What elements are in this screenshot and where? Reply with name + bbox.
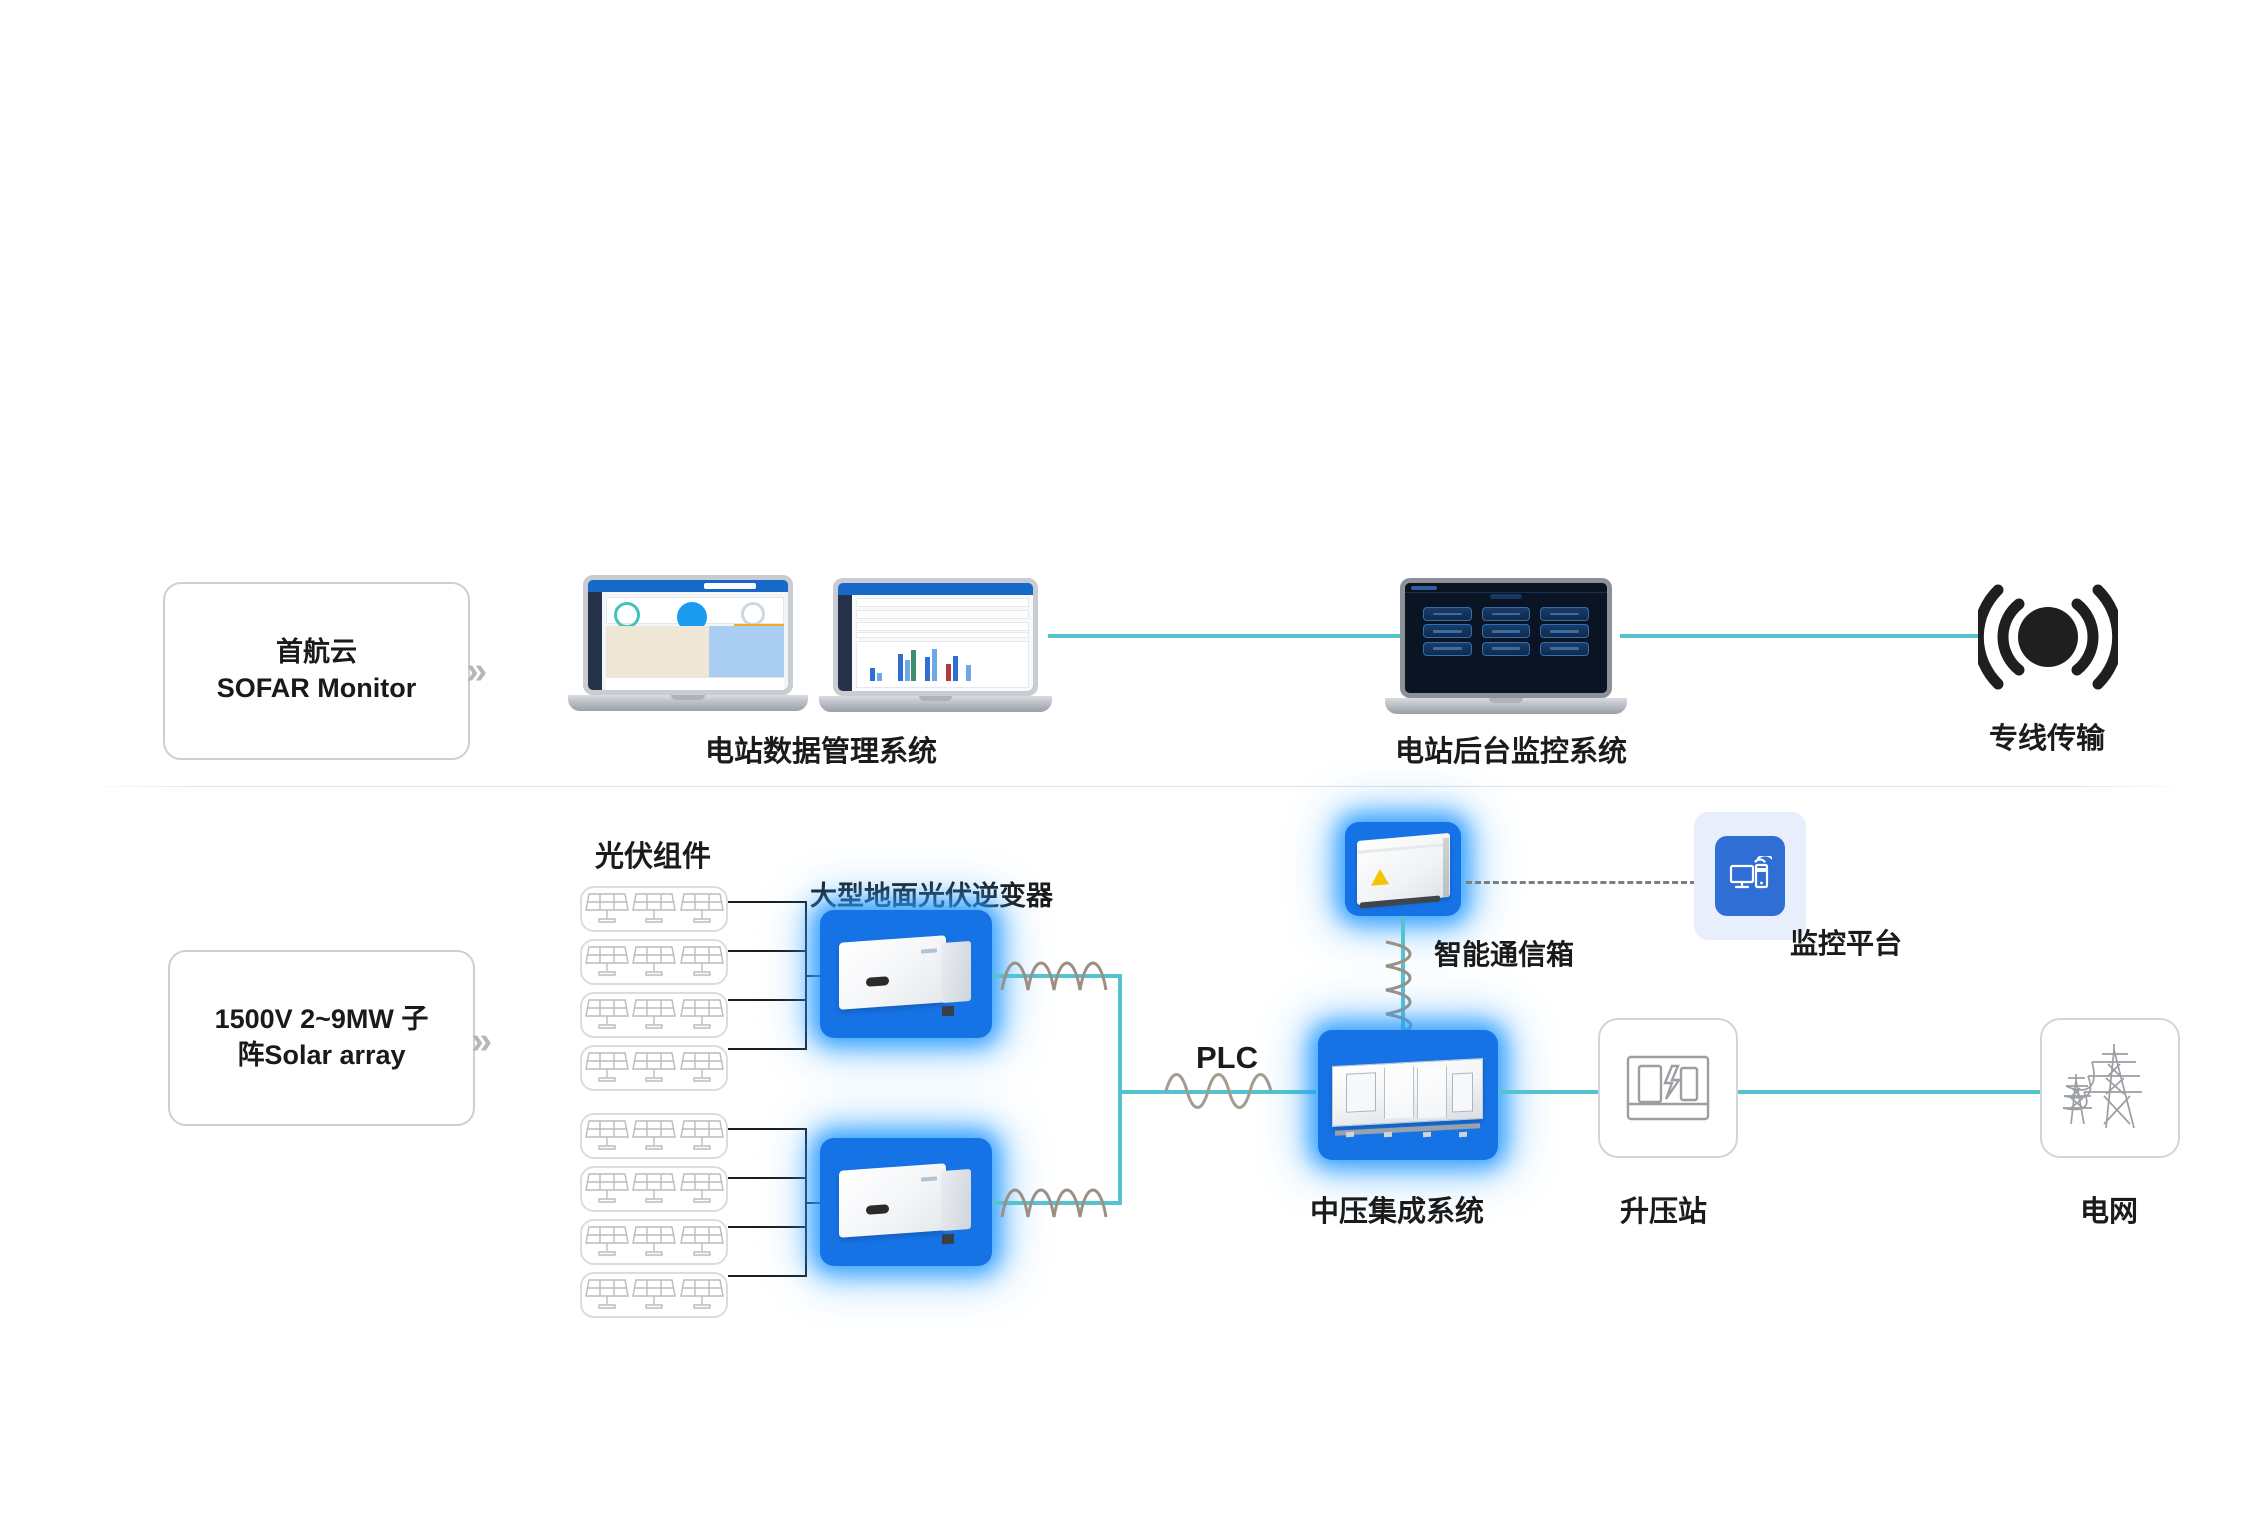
solar-panel-icon [679, 1170, 725, 1208]
chip-solar-line2: 阵Solar array [215, 1038, 429, 1074]
pv-row[interactable] [580, 939, 728, 985]
chart-bar [877, 673, 882, 681]
kpi-ring2-icon [741, 602, 765, 626]
pv-bracket-line [728, 1275, 806, 1277]
chart-bar [870, 668, 875, 681]
dark-grid-button[interactable] [1540, 607, 1589, 621]
plc-label: PLC [1196, 1040, 1258, 1076]
solar-panel-icon [631, 1117, 677, 1155]
inverter-device-icon [839, 934, 973, 1013]
mv-leg [1346, 1131, 1354, 1137]
laptop-screen-dark [1400, 578, 1612, 698]
caption-mv-system: 中压集成系统 [1310, 1188, 1484, 1230]
pv-bracket-line [728, 1128, 806, 1130]
pv-row[interactable] [580, 1219, 728, 1265]
monitoring-platform-tile[interactable] [1694, 812, 1806, 940]
mv-pane [1417, 1066, 1447, 1119]
screen-topbar [588, 580, 788, 592]
screen-filter-row-1 [856, 598, 1030, 607]
screen-search-field [704, 583, 756, 590]
comm-box-tile[interactable] [1345, 822, 1461, 916]
pv-row[interactable] [580, 1045, 728, 1091]
substation-icon [1625, 1052, 1711, 1124]
screen-filter-row-4 [856, 632, 1030, 638]
solar-panel-icon [584, 943, 630, 981]
chart-bar [925, 657, 930, 681]
mv-leg [1459, 1131, 1467, 1137]
chip-line1: 首航云 [217, 635, 416, 671]
plc-sine-wave [1164, 1073, 1284, 1109]
dark-grid-button[interactable] [1423, 642, 1472, 656]
link-commbox-to-platform [1466, 881, 1696, 884]
solar-panel-icon [631, 890, 677, 928]
dark-grid-button[interactable] [1482, 642, 1531, 656]
solar-panel-icon [631, 943, 677, 981]
pv-row[interactable] [580, 1166, 728, 1212]
chart-bar [946, 664, 951, 682]
solar-panel-icon [679, 1276, 725, 1314]
solar-panel-icon [679, 1223, 725, 1261]
dark-title-chip [1490, 594, 1522, 599]
pv-row[interactable] [580, 1113, 728, 1159]
solar-panel-icon [584, 1049, 630, 1087]
inverter-tile-2[interactable] [820, 1138, 992, 1266]
pv-row[interactable] [580, 886, 728, 932]
chevron-right-icon-bottom: » [471, 1022, 486, 1060]
booster-station-tile[interactable] [1598, 1018, 1738, 1158]
dashboard-map-screen [588, 580, 788, 690]
solar-panel-icon [584, 1276, 630, 1314]
mv-container-icon [1332, 1056, 1483, 1134]
mv-door [1452, 1073, 1473, 1113]
transmission-tower-icon [2062, 1042, 2158, 1134]
caption-inverter: 大型地面光伏逆变器 [810, 874, 1053, 913]
mv-system-tile[interactable] [1318, 1030, 1498, 1160]
screen-sidebar [588, 592, 602, 690]
pv-bracket-line [728, 1048, 806, 1050]
dark-grid-button[interactable] [1482, 624, 1531, 638]
laptop-screen-b [833, 578, 1038, 696]
solar-panel-icon [584, 1170, 630, 1208]
chart-bar [932, 649, 937, 682]
chart-bar [898, 654, 903, 682]
coil-squiggle-1 [1000, 952, 1120, 998]
dark-grid-button[interactable] [1540, 642, 1589, 656]
pv-row[interactable] [580, 1272, 728, 1318]
mv-door [1346, 1072, 1376, 1113]
screen-footer [606, 677, 784, 690]
inverter-tile-1[interactable] [820, 910, 992, 1038]
coil-squiggle-2 [1000, 1179, 1120, 1225]
inverter-device-icon [839, 1162, 973, 1241]
caption-booster-station: 升压站 [1620, 1188, 1707, 1230]
solar-panel-icon [679, 890, 725, 928]
mv-pane [1384, 1066, 1414, 1119]
caption-data-management: 电站数据管理系统 [705, 728, 937, 770]
dark-button-grid[interactable] [1423, 607, 1589, 655]
pv-bracket-line [728, 999, 806, 1001]
laptop-data-management-b[interactable] [833, 578, 1038, 711]
pv-bracket-line [728, 1226, 806, 1228]
dark-grid-button[interactable] [1482, 607, 1531, 621]
link-backend-to-transmission [1620, 634, 1978, 638]
link-laptops-to-backend [1048, 634, 1403, 638]
backend-monitor-screen [1405, 583, 1607, 693]
link-mv-to-booster [1498, 1090, 1613, 1094]
communication-box-icon [1357, 837, 1450, 901]
mv-leg [1423, 1131, 1431, 1137]
solar-panel-icon [679, 1049, 725, 1087]
laptop-notch-dark [1489, 698, 1523, 703]
chart-bar [911, 650, 916, 681]
laptop-backend-monitor[interactable] [1400, 578, 1612, 713]
solar-panel-icon [631, 1223, 677, 1261]
kpi-ring-icon [614, 602, 640, 628]
pv-bracket-line [728, 950, 806, 952]
chip-line2: SOFAR Monitor [217, 671, 416, 707]
laptop-screen-a [583, 575, 793, 695]
dashboard-report-screen [838, 583, 1033, 691]
solar-panel-icon [679, 996, 725, 1034]
laptop-notch-b [919, 696, 952, 701]
pv-bracket-line [728, 1177, 806, 1179]
solar-panel-icon [584, 890, 630, 928]
solar-panel-icon [631, 1170, 677, 1208]
solar-panel-icon [584, 1223, 630, 1261]
diagram-canvas: 首航云 SOFAR Monitor » [0, 0, 2265, 1530]
chart-bar [953, 656, 958, 682]
chip-solar-line1: 1500V 2~9MW 子 [215, 1002, 429, 1038]
coil-squiggle-vertical [1378, 940, 1424, 1036]
solar-panel-icon [679, 943, 725, 981]
screen-map [606, 626, 784, 677]
section-divider [85, 786, 2190, 787]
screen-topbar-b [838, 583, 1033, 595]
caption-backend-monitor: 电站后台监控系统 [1395, 728, 1627, 770]
solar-panel-icon [584, 996, 630, 1034]
map-water [709, 626, 784, 677]
dark-grid-button[interactable] [1423, 624, 1472, 638]
solar-panel-icon [679, 1117, 725, 1155]
screen-sidebar-b [838, 595, 852, 691]
pv-row[interactable] [580, 992, 728, 1038]
caption-dedicated-line: 专线传输 [1989, 715, 2105, 757]
link-collector-bus [1118, 974, 1122, 1203]
chart-bar [966, 665, 971, 681]
laptop-data-management-a[interactable] [583, 575, 793, 710]
pv-bracket-line [728, 901, 806, 903]
solar-panel-icon [631, 1276, 677, 1314]
link-booster-to-grid [1738, 1090, 2068, 1094]
wireless-broadcast-icon [1978, 578, 2118, 696]
mv-leg [1384, 1131, 1392, 1137]
chart-bar [905, 660, 910, 681]
solar-panel-icon [631, 996, 677, 1034]
chevron-right-icon-top: » [466, 652, 481, 690]
chip-sofar-monitor[interactable]: 首航云 SOFAR Monitor [163, 582, 470, 760]
chip-solar-array[interactable]: 1500V 2~9MW 子 阵Solar array [168, 950, 475, 1126]
solar-panel-icon [631, 1049, 677, 1087]
screen-kpi-panel [606, 597, 784, 625]
screen-filter-row-2 [856, 610, 1030, 619]
screen-bar-chart [856, 641, 1030, 687]
dark-logo [1411, 586, 1437, 590]
caption-pv-modules: 光伏组件 [595, 833, 711, 875]
dark-grid-button[interactable] [1540, 624, 1589, 638]
caption-monitoring-platform: 监控平台 [1790, 922, 1902, 962]
monitor-pc-wifi-icon [1715, 836, 1784, 915]
caption-power-grid: 电网 [2080, 1188, 2138, 1230]
solar-panel-icon [584, 1117, 630, 1155]
laptop-notch-a [671, 695, 705, 700]
caption-comm-box: 智能通信箱 [1434, 933, 1574, 973]
dark-grid-button[interactable] [1423, 607, 1472, 621]
screen-filter-row-3 [856, 622, 1030, 631]
power-grid-tile[interactable] [2040, 1018, 2180, 1158]
